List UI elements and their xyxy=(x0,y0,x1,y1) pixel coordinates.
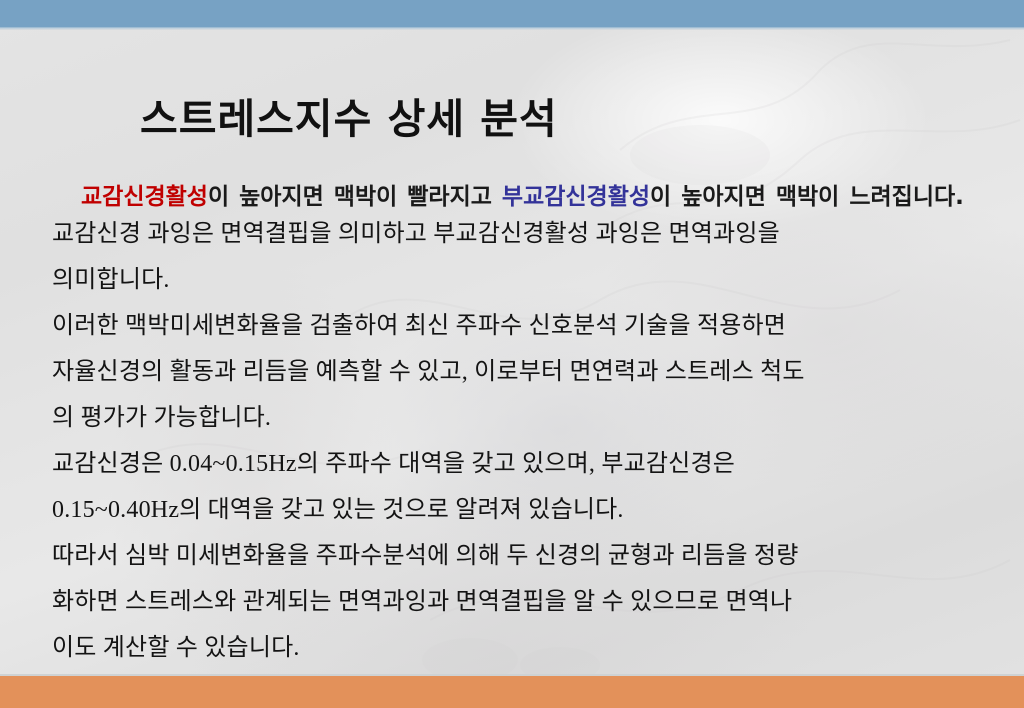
top-accent-bar xyxy=(0,0,1024,27)
presentation-slide: 스트레스지수 상세 분석 교감신경활성이 높아지면 맥박이 빨라지고 부교감신경… xyxy=(0,0,1024,708)
page-title: 스트레스지수 상세 분석 xyxy=(140,85,558,145)
parasympathetic-activity-highlight: 부교감신경활성 xyxy=(502,184,650,210)
bottom-accent-bar xyxy=(0,676,1024,708)
body-line: 화하면 스트레스와 관계되는 면역과잉과 면역결핍을 알 수 있으므로 면역나 xyxy=(52,579,1002,625)
lead-paragraph-segment-4: 이 높아지면 맥박이 느려집니다. xyxy=(650,184,964,210)
body-text-block: 교감신경 과잉은 면역결핍을 의미하고 부교감신경활성 과잉은 면역과잉을 의미… xyxy=(52,211,1002,671)
sympathetic-activity-highlight: 교감신경활성 xyxy=(81,184,208,210)
body-line: 교감신경 과잉은 면역결핍을 의미하고 부교감신경활성 과잉은 면역과잉을 xyxy=(52,211,1002,257)
body-line: 자율신경의 활동과 리듬을 예측할 수 있고, 이로부터 면연력과 스트레스 척… xyxy=(52,349,1002,395)
body-line: 따라서 심박 미세변화율을 주파수분석에 의해 두 신경의 균형과 리듬을 정량 xyxy=(52,533,1002,579)
body-line: 이도 계산할 수 있습니다. xyxy=(52,625,1002,671)
lead-paragraph: 교감신경활성이 높아지면 맥박이 빨라지고 부교감신경활성이 높아지면 맥박이 … xyxy=(55,181,1007,213)
top-accent-bar-edge xyxy=(0,27,1024,30)
body-line: 이러한 맥박미세변화율을 검출하여 최신 주파수 신호분석 기술을 적용하면 xyxy=(52,303,1002,349)
body-line: 0.15~0.40Hz의 대역을 갖고 있는 것으로 알려져 있습니다. xyxy=(52,487,1002,533)
body-line: 의 평가가 가능합니다. xyxy=(52,395,1002,441)
body-line: 교감신경은 0.04~0.15Hz의 주파수 대역을 갖고 있으며, 부교감신경… xyxy=(52,441,1002,487)
body-line: 의미합니다. xyxy=(52,257,1002,303)
lead-paragraph-segment-2: 이 높아지면 맥박이 빨라지고 xyxy=(208,184,502,210)
